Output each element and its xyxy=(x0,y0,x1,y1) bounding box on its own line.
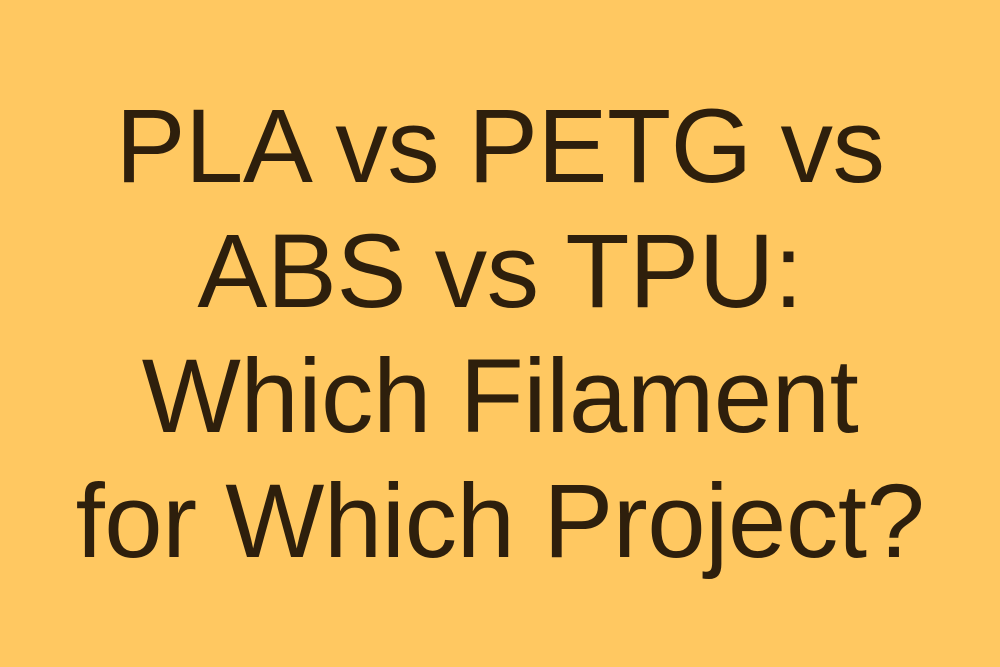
title-line-2: ABS vs TPU: xyxy=(30,209,970,334)
page-title: PLA vs PETG vs ABS vs TPU: Which Filamen… xyxy=(30,84,970,584)
title-line-4: for Which Project? xyxy=(30,459,970,584)
title-card: PLA vs PETG vs ABS vs TPU: Which Filamen… xyxy=(0,0,1000,667)
title-line-1: PLA vs PETG vs xyxy=(30,84,970,209)
title-line-3: Which Filament xyxy=(30,334,970,459)
